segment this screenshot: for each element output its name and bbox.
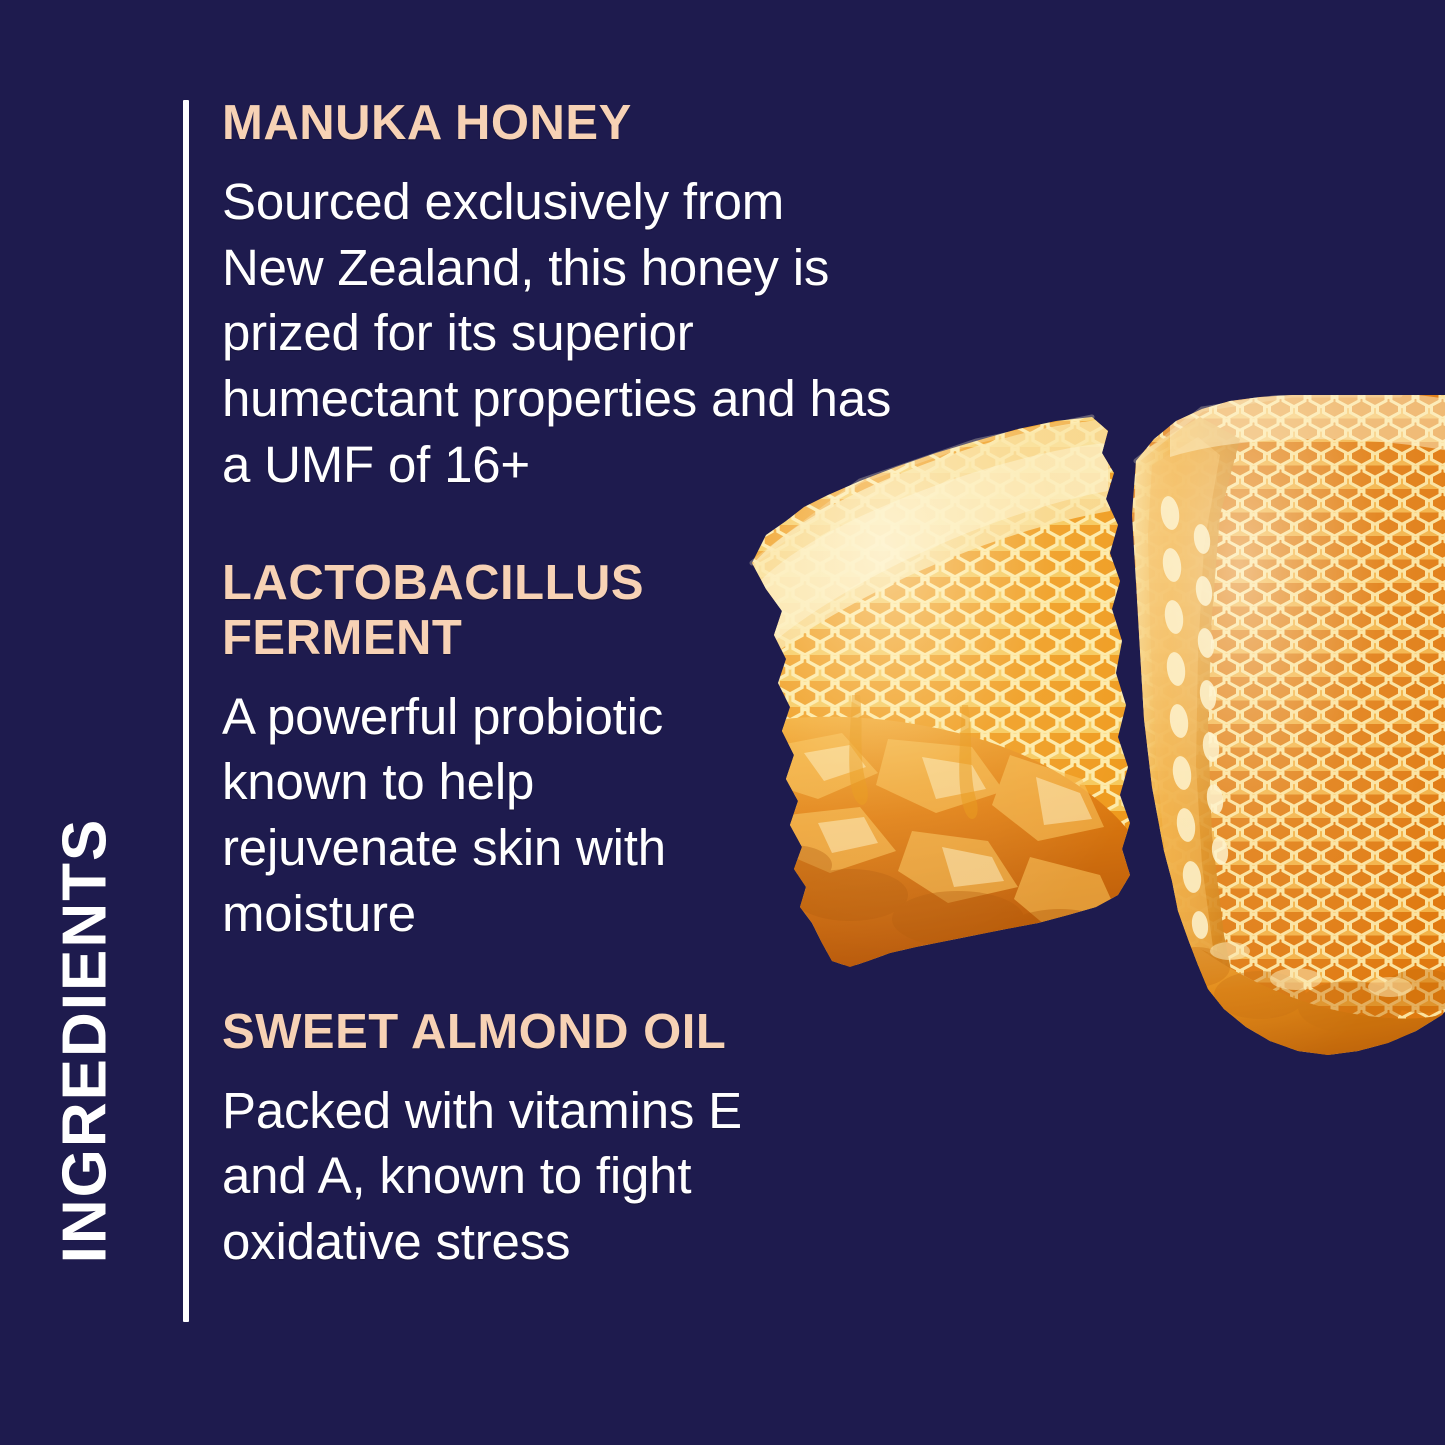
section-label: INGREDIENTS (0, 760, 170, 1320)
ingredient-item-lactobacillus-ferment: LACTOBACILLUS FERMENT A powerful probiot… (222, 556, 922, 947)
ingredients-list: MANUKA HONEY Sourced exclusively from Ne… (222, 96, 922, 1275)
ingredient-name: LACTOBACILLUS FERMENT (222, 556, 722, 666)
ingredient-description: Packed with vitamins E and A, known to f… (222, 1078, 822, 1275)
section-label-text: INGREDIENTS (50, 817, 121, 1263)
ingredient-item-sweet-almond-oil: SWEET ALMOND OIL Packed with vitamins E … (222, 1005, 922, 1275)
ingredients-infographic: INGREDIENTS MANUKA HONEY Sourced exclusi… (0, 0, 1445, 1445)
ingredient-description: A powerful probiotic known to help rejuv… (222, 684, 702, 947)
ingredient-name: MANUKA HONEY (222, 96, 922, 151)
ingredient-name: SWEET ALMOND OIL (222, 1005, 922, 1060)
ingredient-description: Sourced exclusively from New Zealand, th… (222, 169, 894, 498)
ingredient-item-manuka-honey: MANUKA HONEY Sourced exclusively from Ne… (222, 96, 922, 498)
vertical-divider (183, 100, 189, 1322)
